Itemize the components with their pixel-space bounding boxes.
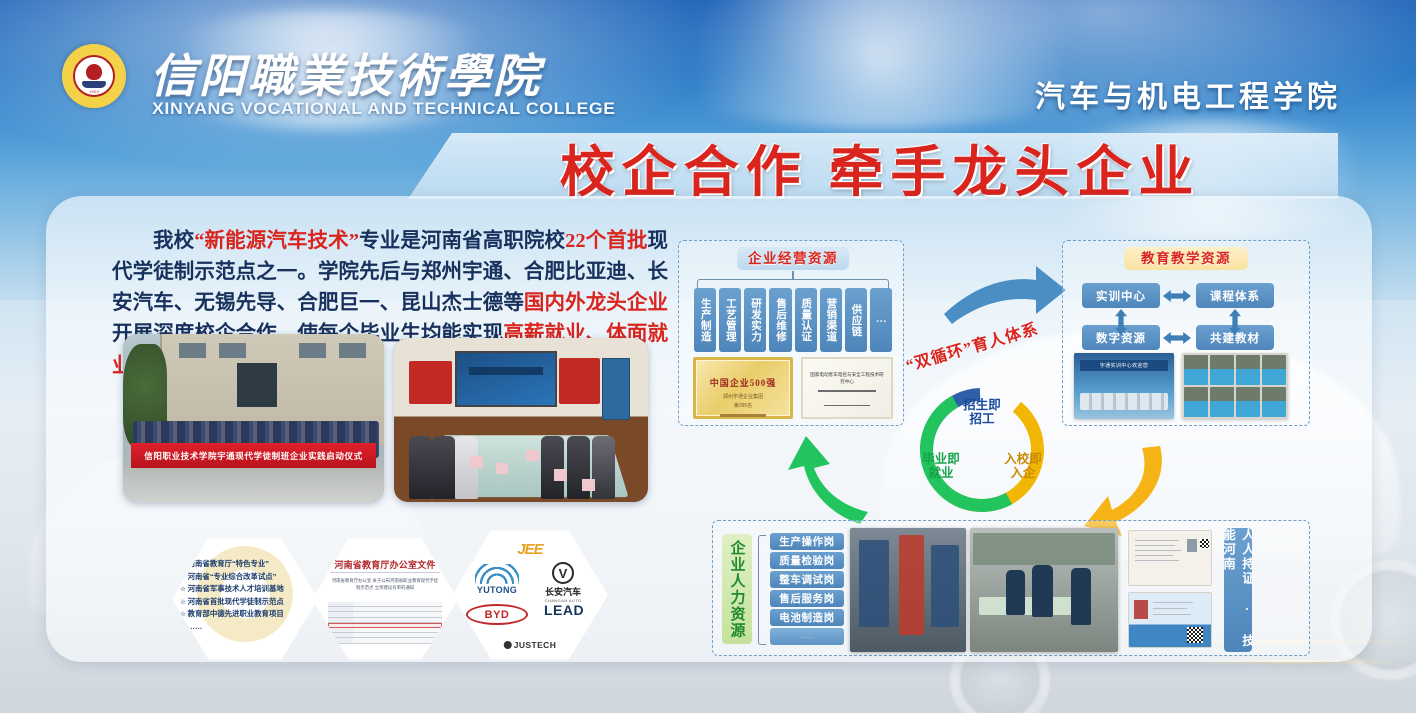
- logo-byd-text: BYD: [485, 609, 510, 621]
- poster-canvas: 1903 信阳職業技術學院 XINYANG VOCATIONAL AND TEC…: [0, 0, 1416, 713]
- logo-changan-text: 长安汽车: [530, 585, 596, 598]
- document-subtitle: 河南省教育厅办公室 关于公布河南省职业教育现代学徒制示范点 立项建设名单的通知: [330, 578, 440, 591]
- photo2-red-banner: [409, 361, 452, 404]
- training-center-caption: 宇通实训中心欢迎您: [1080, 360, 1168, 372]
- enterprise-section-title: 企业经营资源: [737, 247, 849, 270]
- photo1-banner: 信阳职业技术学院宇通现代学徒制班企业实践启动仪式: [131, 443, 376, 468]
- hr-section-title: 企业人力资源: [722, 534, 752, 644]
- list-item: 河南省军事技术人才培训基地: [180, 583, 312, 596]
- list-item: 河南省教育厅“特色专业”: [180, 558, 312, 571]
- photo-meeting-room: [394, 338, 648, 502]
- intro-text-2: 专业是河南省高职院校: [359, 230, 565, 252]
- photo-assembly-training: [970, 528, 1118, 652]
- pillar-item: 研发实力: [744, 288, 766, 352]
- photo-skill-id-card: [1128, 592, 1212, 648]
- workshop-ceiling: [973, 533, 1115, 565]
- intro-text-1: 我校: [153, 230, 194, 252]
- education-node-training-center: 实训中心: [1082, 283, 1160, 308]
- worker-figure: [1006, 570, 1025, 615]
- workshop-machine: [859, 540, 889, 627]
- loop-label-employ-l1: 毕业即: [908, 452, 974, 466]
- list-item: ……: [180, 621, 312, 634]
- certificate-line: [1135, 545, 1175, 546]
- college-name-en: XINYANG VOCATIONAL AND TECHNICAL COLLEGE: [152, 99, 616, 119]
- photo2-projector-screen: [455, 351, 557, 407]
- intro-highlight-major: “新能源汽车技术”: [194, 230, 359, 252]
- cert-gold-line2: 郑州宇通企业集团: [696, 393, 790, 400]
- photo2-name-card: [554, 469, 567, 480]
- workshop-bench: [979, 597, 1083, 614]
- photo1-ground: [123, 468, 384, 502]
- cert-white-bar: [824, 405, 870, 406]
- loop-label-employ: 毕业即 就业: [908, 452, 974, 480]
- photo1-window: [219, 343, 246, 359]
- list-item: 教育部中德先进职业教育项目: [180, 608, 312, 621]
- textbook-cover: [1184, 387, 1208, 417]
- logo-justech: JUSTECH: [504, 640, 556, 650]
- photo-textbooks: [1182, 353, 1288, 419]
- photo2-person: [409, 436, 432, 498]
- photo2-name-card: [470, 456, 483, 467]
- enterprise-pillars: 生产制造 工艺管理 研发实力 售后维修 质量认证 营销渠道 供应链 …: [694, 288, 892, 352]
- pillar-item: …: [870, 288, 892, 352]
- pillar-item: 营销渠道: [820, 288, 842, 352]
- hr-post-item: 售后服务岗: [770, 590, 844, 607]
- cert-white-bar: [818, 390, 876, 391]
- cert-gold-line1: 中国企业500强: [696, 376, 790, 389]
- id-card-portrait: [1134, 600, 1148, 619]
- photo1-window: [299, 343, 326, 359]
- loop-label-recruit-l1: 招生即: [926, 398, 1038, 412]
- workshop-machine: [931, 545, 959, 627]
- textbook-cover: [1184, 355, 1208, 385]
- id-card-qr-icon: [1187, 627, 1203, 643]
- loop-label-employ-l2: 就业: [908, 466, 974, 480]
- photo2-red-banner: [559, 358, 600, 404]
- loop-label-recruit-l2: 招工: [926, 412, 1038, 426]
- hr-post-list: 生产操作岗 质量检验岗 整车调试岗 售后服务岗 电池制造岗 ……: [770, 533, 844, 647]
- photo2-person: [541, 436, 564, 498]
- poster-header: 1903 信阳職業技術學院 XINYANG VOCATIONAL AND TEC…: [0, 0, 1416, 132]
- pillar-item: 质量认证: [795, 288, 817, 352]
- logo-book-icon: [82, 81, 106, 88]
- hr-brace: [758, 535, 766, 645]
- certificate-line: [1135, 540, 1179, 541]
- textbook-cover: [1262, 355, 1286, 385]
- arrow-enterprise-to-education: [940, 258, 1070, 330]
- pillar-item: 工艺管理: [719, 288, 741, 352]
- document-rule: [330, 572, 440, 573]
- enterprise-brace: [697, 279, 889, 288]
- photo2-screen-title: [469, 367, 543, 375]
- cert-white-line1: 国家电动客车电控与安全工程技术研究中心: [803, 372, 891, 385]
- cert-gold-bar: [720, 414, 766, 417]
- worker-figure: [1032, 565, 1053, 617]
- certificate-qr-icon: [1200, 539, 1209, 548]
- honors-list: 河南省教育厅“特色专业” 河南省“专业综合改革试点” 河南省军事技术人才培训基地…: [180, 558, 312, 633]
- certificate-research-center: 国家电动客车电控与安全工程技术研究中心: [801, 357, 893, 419]
- logo-yutong-text: YUTONG: [468, 585, 526, 595]
- loop-label-enroll: 入校即 入企: [990, 452, 1056, 480]
- certificate-line: [1135, 550, 1181, 551]
- logo-jee: JEE: [517, 541, 542, 558]
- loop-label-enroll-l1: 入校即: [990, 452, 1056, 466]
- photo2-person: [455, 436, 478, 498]
- photo2-name-card: [582, 479, 595, 490]
- hr-post-item: ……: [770, 628, 844, 645]
- photo1-banner-text: 信阳职业技术学院宇通现代学徒制班企业实践启动仪式: [144, 450, 362, 462]
- photo1-window: [339, 343, 366, 359]
- photo2-name-card: [526, 450, 539, 461]
- id-card-line: [1153, 608, 1187, 609]
- changan-v-icon: [552, 562, 574, 584]
- logo-changan: 长安汽车 CHANGAN AUTO: [530, 562, 596, 603]
- photo2-name-card: [496, 463, 509, 474]
- arrow-hr-to-enterprise: [772, 432, 878, 528]
- photo1-window: [179, 343, 206, 359]
- photo2-door: [602, 358, 630, 420]
- logo-shield-icon: [86, 64, 102, 80]
- education-section-title: 教育教学资源: [1124, 247, 1248, 270]
- college-name-cn: 信阳職業技術學院: [150, 40, 542, 106]
- hr-post-item: 整车调试岗: [770, 571, 844, 588]
- skill-henan-badge: 人人持证 · 技能河南: [1224, 528, 1252, 652]
- certificate-portrait: [1187, 539, 1197, 552]
- list-item: 河南省首批现代学徒制示范点: [180, 596, 312, 609]
- loop-label-enroll-l2: 入企: [990, 466, 1056, 480]
- loop-label-recruit: 招生即 招工: [926, 398, 1038, 426]
- photo-workshop-line: [850, 528, 966, 652]
- logo-yutong: YUTONG: [468, 564, 526, 595]
- pillar-item: 售后维修: [769, 288, 791, 352]
- loop-segment-employ: [905, 373, 1058, 526]
- logo-emblem-icon: 1903: [73, 55, 115, 97]
- photo-training-center: 宇通实训中心欢迎您: [1074, 353, 1174, 419]
- list-item: 河南省“专业综合改革试点”: [180, 571, 312, 584]
- workshop-machine: [899, 535, 925, 634]
- logo-byd: BYD: [466, 604, 528, 625]
- department-name: 汽车与机电工程学院: [1035, 72, 1341, 116]
- textbook-cover: [1236, 387, 1260, 417]
- intro-highlight-count: 22个首批: [565, 230, 647, 252]
- hr-post-item: 质量检验岗: [770, 552, 844, 569]
- logo-lead-text: LEAD: [544, 602, 584, 618]
- enterprise-brace-stem: [792, 271, 794, 280]
- photo2-person: [592, 436, 615, 498]
- textbook-cover: [1262, 387, 1286, 417]
- college-logo: 1903: [62, 44, 126, 108]
- page-title: 校企合作 牵手龙头企业: [440, 136, 1320, 198]
- pillar-item: 生产制造: [694, 288, 716, 352]
- photo2-person: [432, 436, 455, 498]
- logo-year: 1903: [89, 89, 99, 94]
- pillar-item: 供应链: [845, 288, 867, 352]
- photo1-entrance: [237, 363, 277, 407]
- yutong-arcs-icon: [475, 564, 519, 584]
- logo-lead: LEAD: [532, 602, 596, 618]
- training-center-vehicles: [1080, 393, 1168, 410]
- hr-post-item: 电池制造岗: [770, 609, 844, 626]
- document-table: [328, 602, 442, 644]
- table-row: [328, 638, 442, 643]
- id-card-line: [1153, 602, 1193, 603]
- worker-figure: [1071, 568, 1092, 625]
- intro-highlight-partners: 国内外龙头企业: [524, 292, 668, 314]
- id-card-line: [1153, 614, 1191, 615]
- cert-gold-line3: 第395名: [696, 402, 790, 409]
- textbook-cover: [1210, 355, 1234, 385]
- hr-post-item: 生产操作岗: [770, 533, 844, 550]
- photo-group-ceremony: 信阳职业技术学院宇通现代学徒制班企业实践启动仪式: [123, 334, 384, 502]
- photo-skill-certificate: [1128, 530, 1212, 586]
- certificate-line: [1135, 560, 1179, 561]
- certificate-line: [1135, 555, 1173, 556]
- certificate-top500: 中国企业500强 郑州宇通企业集团 第395名: [693, 357, 793, 419]
- logo-justech-text: JUSTECH: [514, 640, 556, 650]
- education-node-curriculum: 课程体系: [1196, 283, 1274, 308]
- textbook-cover: [1236, 355, 1260, 385]
- textbook-cover: [1210, 387, 1234, 417]
- justech-dot-icon: [504, 641, 512, 649]
